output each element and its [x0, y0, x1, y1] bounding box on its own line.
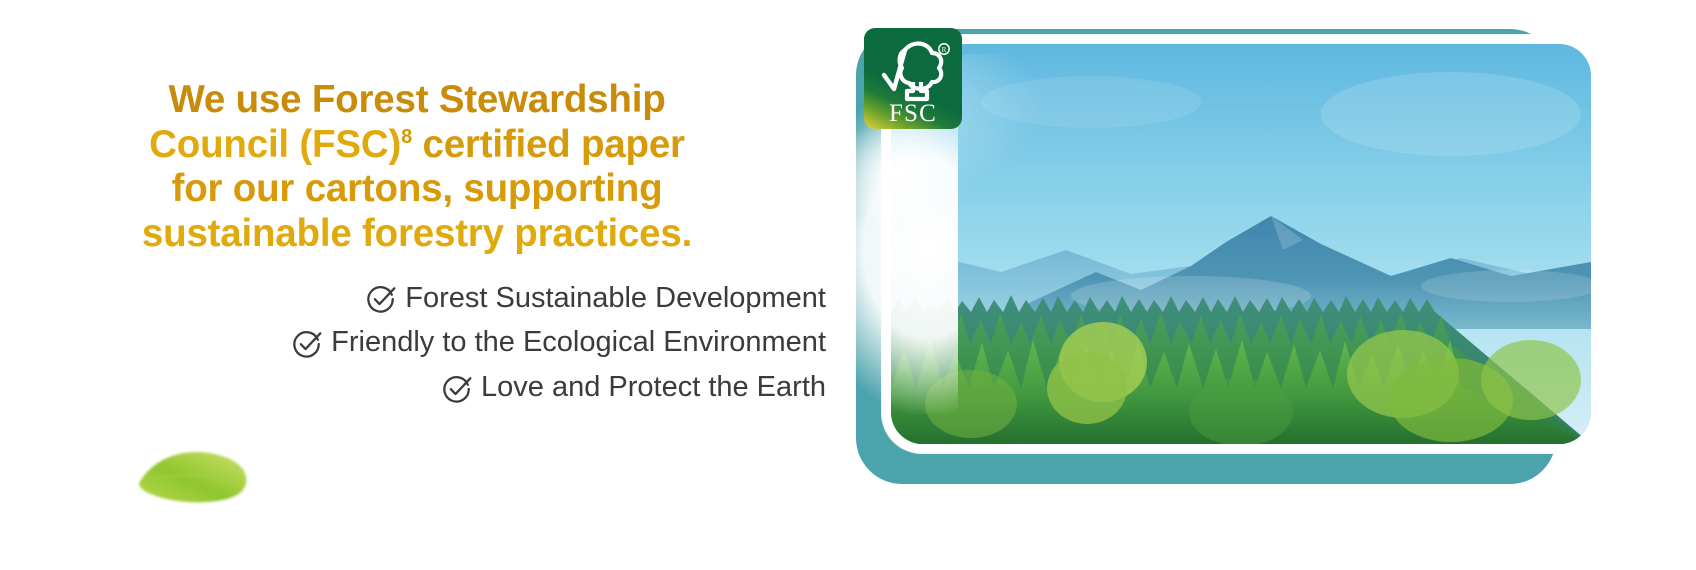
check-circle-icon [292, 329, 322, 359]
headline-line-2-part-a: Council (FSC) [149, 123, 401, 166]
list-item: Love and Protect the Earth [0, 368, 834, 407]
headline-line-3: for our cartons, supporting [0, 167, 834, 212]
benefits-list: Forest Sustainable Development Friendly … [0, 279, 852, 408]
list-item-label: Friendly to the Ecological Environment [331, 323, 826, 362]
footnote-marker: 8 [401, 126, 412, 148]
forest-mountain-photo [891, 44, 1591, 444]
headline-line-2-part-b: certified paper [412, 123, 685, 166]
list-item: Forest Sustainable Development [0, 279, 834, 318]
headline-line-2: Council (FSC)8 certified paper [0, 123, 834, 168]
check-circle-icon [442, 374, 472, 404]
check-circle-icon [366, 284, 396, 314]
fsc-logo: R FSC [864, 28, 962, 129]
photo-card-frame [882, 35, 1600, 453]
green-leaf-icon [133, 443, 253, 505]
page-title: We use Forest Stewardship Council (FSC)8… [0, 78, 852, 257]
fsc-wordmark: FSC [889, 100, 937, 127]
list-item: Friendly to the Ecological Environment [0, 323, 834, 362]
text-content-block: We use Forest Stewardship Council (FSC)8… [0, 78, 852, 413]
headline-line-1: We use Forest Stewardship [0, 78, 834, 123]
fsc-promo-banner: We use Forest Stewardship Council (FSC)8… [0, 0, 1696, 570]
list-item-label: Forest Sustainable Development [405, 279, 826, 318]
svg-text:R: R [942, 46, 947, 54]
image-panel [848, 24, 1688, 484]
list-item-label: Love and Protect the Earth [481, 368, 826, 407]
headline-line-4: sustainable forestry practices. [0, 212, 834, 257]
